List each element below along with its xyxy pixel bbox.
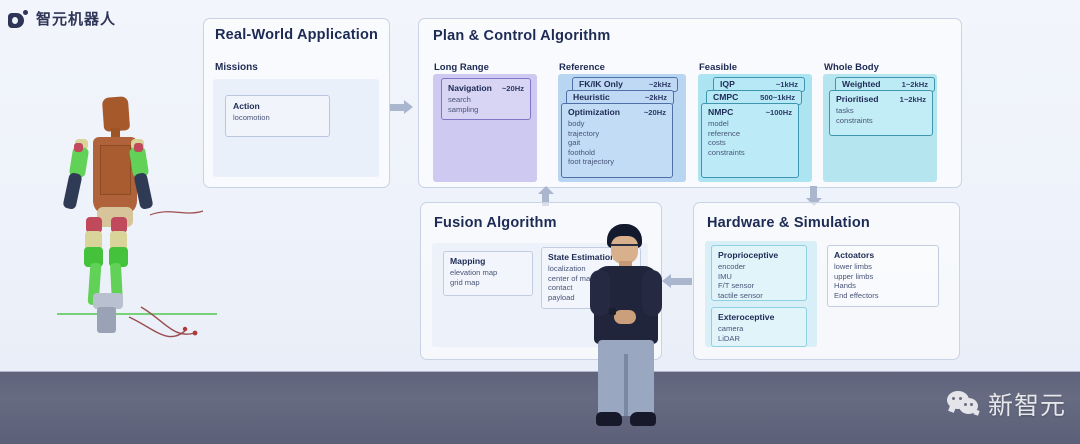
weighted-name: Weighted	[842, 79, 881, 89]
proprioceptive-name: Proprioceptive	[718, 250, 778, 260]
actuators-item: lower limbs	[834, 262, 932, 272]
actuators-item: upper limbs	[834, 272, 932, 282]
arrow-application-to-plan	[390, 104, 412, 111]
presenter-watch	[609, 308, 616, 315]
actuators-card: Actoators lower limbs upper limbs Hands …	[827, 245, 939, 307]
wechat-icon	[947, 391, 981, 417]
prioritised-card: Prioritised 1~2kHz tasks constraints	[829, 90, 933, 136]
robot-visualization	[45, 95, 210, 350]
nmpc-name: NMPC	[708, 107, 733, 117]
navigation-item: sampling	[448, 105, 524, 115]
optimization-item: trajectory	[568, 129, 666, 139]
fkik-only-name: FK/IK Only	[579, 79, 623, 89]
optimization-card: Optimization ~20Hz body trajectory gait …	[561, 103, 673, 178]
presenter-sleeve-left	[590, 270, 610, 316]
weighted-rate: 1~2kHz	[902, 80, 928, 89]
prioritised-item: constraints	[836, 116, 926, 126]
action-card: Action locomotion	[225, 95, 330, 137]
hardware-simulation-title: Hardware & Simulation	[707, 215, 870, 231]
presenter-shoe-left	[596, 412, 622, 426]
cmpc-rate: 500~1kHz	[760, 93, 795, 102]
col1-line1: Long Range	[434, 62, 489, 73]
prioritised-name: Prioritised	[836, 94, 879, 104]
plan-control-algorithm-title: Plan & Control Algorithm	[433, 28, 610, 44]
navigation-item: search	[448, 95, 524, 105]
missions-label: Missions	[215, 62, 258, 73]
mapping-item: grid map	[450, 278, 526, 288]
cmpc-name: CMPC	[713, 92, 738, 102]
nmpc-item: constraints	[708, 148, 792, 158]
optimization-item: foothold	[568, 148, 666, 158]
optimization-name: Optimization	[568, 107, 620, 117]
action-card-name: Action	[233, 101, 260, 111]
actuators-name: Actoators	[834, 250, 874, 260]
exteroceptive-item: camera	[718, 324, 800, 334]
iqp-name: IQP	[720, 79, 735, 89]
proprioceptive-item: tactile sensor	[718, 291, 800, 301]
proprioceptive-card: Proprioceptive encoder IMU F/T sensor ta…	[711, 245, 807, 301]
brand-logo: 智元机器人	[8, 8, 116, 29]
presenter-glasses	[611, 244, 638, 252]
channel-watermark: 新智元	[947, 386, 1066, 422]
col2-line1: Reference	[559, 62, 605, 73]
exteroceptive-item: LiDAR	[718, 334, 800, 344]
real-world-application-title: Real-World Application	[215, 27, 378, 43]
exteroceptive-name: Exteroceptive	[718, 312, 774, 322]
presenter-hands	[614, 310, 636, 324]
proprioceptive-item: IMU	[718, 272, 800, 282]
fusion-algorithm-title: Fusion Algorithm	[434, 215, 557, 231]
agibot-mark-icon	[8, 10, 30, 28]
stage-floor	[0, 372, 1080, 444]
col3-line1: Feasible	[699, 62, 737, 73]
action-item: locomotion	[233, 113, 322, 123]
exteroceptive-card: Exteroceptive camera LiDAR	[711, 307, 807, 347]
optimization-item: foot trajectory	[568, 157, 666, 167]
presenter-shoe-right	[630, 412, 656, 426]
prioritised-rate: 1~2kHz	[900, 95, 926, 104]
presenter-jeans-gap	[624, 354, 628, 416]
actuators-item: End effectors	[834, 291, 932, 301]
nmpc-item: costs	[708, 138, 792, 148]
nmpc-item: model	[708, 119, 792, 129]
heuristic-name: Heuristic	[573, 92, 610, 102]
mapping-name: Mapping	[450, 256, 485, 266]
mapping-card: Mapping elevation map grid map	[443, 251, 533, 296]
actuators-item: Hands	[834, 281, 932, 291]
brand-name: 智元机器人	[36, 8, 116, 29]
robot-trajectory-curves	[45, 95, 210, 350]
heuristic-rate: ~2kHz	[645, 93, 667, 102]
navigation-name: Navigation	[448, 83, 492, 93]
optimization-item: gait	[568, 138, 666, 148]
proprioceptive-item: F/T sensor	[718, 281, 800, 291]
proprioceptive-item: encoder	[718, 262, 800, 272]
navigation-rate: ~20Hz	[502, 84, 524, 93]
optimization-item: body	[568, 119, 666, 129]
watermark-text: 新智元	[988, 386, 1066, 422]
nmpc-item: reference	[708, 129, 792, 139]
mapping-item: elevation map	[450, 268, 526, 278]
real-world-application-panel: Real-World Application Missions Action l…	[203, 18, 390, 188]
hardware-simulation-panel: Hardware & Simulation Proprioceptive enc…	[693, 202, 960, 360]
presenter-sleeve-right	[642, 270, 662, 316]
presenter	[578, 224, 673, 436]
optimization-rate: ~20Hz	[644, 108, 666, 117]
col4-line1: Whole Body	[824, 62, 879, 73]
nmpc-rate: ~100Hz	[766, 108, 792, 117]
nmpc-card: NMPC ~100Hz model reference costs constr…	[701, 103, 799, 178]
iqp-rate: ~1kHz	[776, 80, 798, 89]
navigation-card: Navigation ~20Hz search sampling	[441, 78, 531, 120]
prioritised-item: tasks	[836, 106, 926, 116]
fkik-only-rate: ~2kHz	[649, 80, 671, 89]
